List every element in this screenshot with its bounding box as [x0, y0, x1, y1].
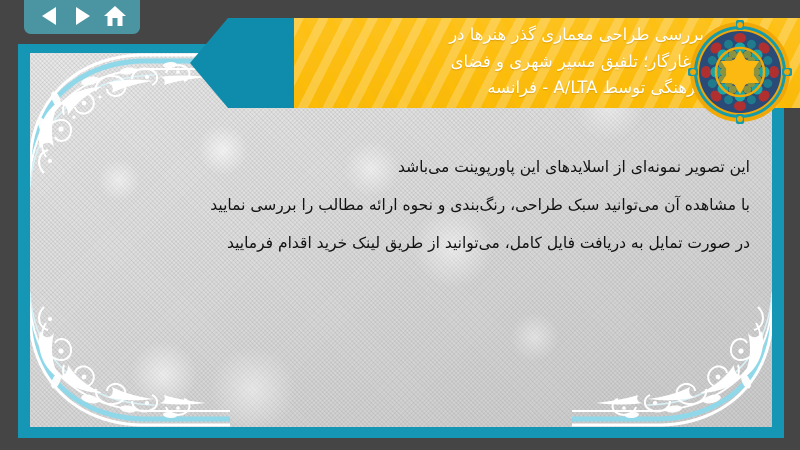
slide-viewer: این تصویر نمونه‌ای از اسلایدهای این پاور…: [0, 0, 800, 450]
triangle-left-icon: [40, 6, 58, 26]
home-button[interactable]: [100, 3, 130, 29]
banner-arrow-tab: [190, 18, 298, 108]
body-line-1: این تصویر نمونه‌ای از اسلایدهای این پاور…: [58, 149, 750, 187]
persian-rosette-ornament: [688, 20, 792, 124]
slide-right-edge-strip: [772, 108, 784, 438]
next-slide-button[interactable]: [67, 3, 97, 29]
body-line-3: در صورت تمایل به دریافت فایل کامل، می‌تو…: [58, 225, 750, 263]
previous-slide-button[interactable]: [34, 3, 64, 29]
slide-navigation-bar: [24, 0, 140, 34]
triangle-right-icon: [73, 6, 91, 26]
arabesque-corner-flourish-bottom-right: [572, 277, 772, 427]
slide-title-banner: بررسی طراحی معماری گذر هنرها در بوغارگار…: [190, 18, 800, 108]
arabesque-corner-flourish-bottom-left: [30, 277, 230, 427]
body-line-2: با مشاهده آن می‌توانید سبک طراحی، رنگ‌بن…: [58, 187, 750, 225]
slide-content-panel: این تصویر نمونه‌ای از اسلایدهای این پاور…: [30, 53, 772, 427]
home-icon: [103, 5, 127, 27]
slide-body-text: این تصویر نمونه‌ای از اسلایدهای این پاور…: [58, 149, 750, 263]
